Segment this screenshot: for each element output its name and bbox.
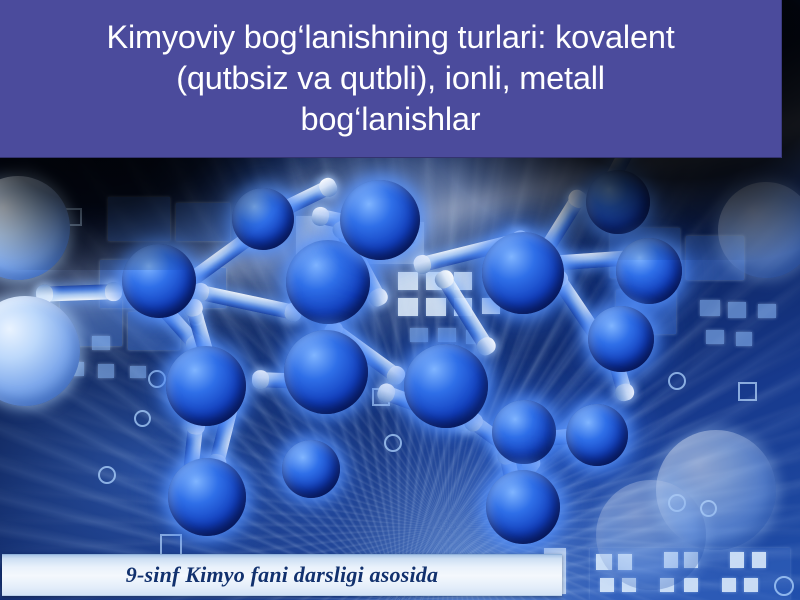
slide-title: Kimyoviy bog‘lanishning turlari: kovalen…: [11, 17, 771, 140]
slide-source-caption: 9-sinf Kimyo fani darsligi asosida: [126, 562, 438, 588]
slide-title-bar: Kimyoviy bog‘lanishning turlari: kovalen…: [0, 0, 782, 158]
slide-source-caption-bar: 9-sinf Kimyo fani darsligi asosida: [2, 554, 562, 596]
presentation-slide: Kimyoviy bog‘lanishning turlari: kovalen…: [0, 0, 800, 600]
